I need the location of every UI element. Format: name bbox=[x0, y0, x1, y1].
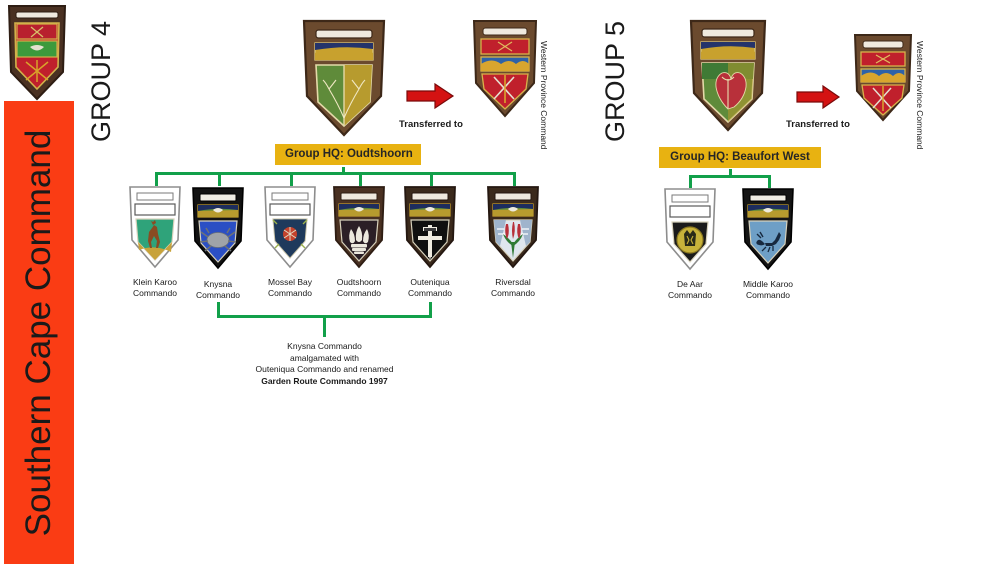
group-4-western-province-command-badge bbox=[468, 17, 542, 119]
amalgamation-note-line1: Knysna Commando bbox=[232, 341, 417, 353]
de-aar-commando-line2: Commando bbox=[647, 290, 733, 301]
amalgamation-note: Knysna Commando amalgamated with Outeniq… bbox=[232, 341, 417, 387]
group-5-title: GROUP 5 bbox=[600, 21, 631, 142]
riversdal-commando-caption: Riversdal Commando bbox=[470, 277, 556, 299]
amalgamation-note-line3: Outeniqua Commando and renamed bbox=[232, 364, 417, 376]
knysna-commando-badge bbox=[189, 185, 247, 271]
riversdal-commando-line1: Riversdal bbox=[470, 277, 556, 288]
middle-karoo-commando-line1: Middle Karoo bbox=[725, 279, 811, 290]
group-5-badge bbox=[684, 17, 772, 133]
southern-cape-command-banner: Southern Cape Command bbox=[4, 101, 74, 564]
amalgamation-note-line4: Garden Route Commando 1997 bbox=[232, 376, 417, 388]
riversdal-commando-badge bbox=[484, 184, 542, 270]
group-4-transfer-arrow bbox=[405, 82, 455, 115]
southern-cape-command-crest bbox=[4, 2, 70, 101]
amalgamation-note-line2: amalgamated with bbox=[232, 353, 417, 365]
group-4-transfer-label: Transferred to bbox=[399, 119, 463, 130]
group-4-drop-knysna bbox=[218, 172, 221, 186]
outeniqua-commando-badge bbox=[401, 184, 459, 270]
group-4-title: GROUP 4 bbox=[86, 21, 117, 142]
outeniqua-commando-caption: Outeniqua Commando bbox=[387, 277, 473, 299]
group-5-transfer-label: Transferred to bbox=[786, 119, 850, 130]
amalgamation-stem bbox=[323, 315, 326, 337]
de-aar-commando-badge bbox=[661, 186, 719, 272]
group-4-transferred-to-text: Western Province Command bbox=[539, 41, 549, 150]
outeniqua-commando-line1: Outeniqua bbox=[387, 277, 473, 288]
group-5-horizontal-bus bbox=[689, 175, 771, 178]
middle-karoo-commando-line2: Commando bbox=[725, 290, 811, 301]
klein-karoo-commando-badge bbox=[126, 184, 184, 270]
mossel-bay-commando-badge bbox=[261, 184, 319, 270]
de-aar-commando-line1: De Aar bbox=[647, 279, 733, 290]
group-4-horizontal-bus bbox=[155, 172, 515, 175]
riversdal-commando-line2: Commando bbox=[470, 288, 556, 299]
command-banner-label: Southern Cape Command bbox=[19, 129, 59, 536]
outeniqua-commando-line2: Commando bbox=[387, 288, 473, 299]
group-5-hq-pill: Group HQ: Beaufort West bbox=[659, 147, 821, 168]
group-4-transferred-to-label: Western Province Command bbox=[538, 41, 549, 150]
group-4-badge bbox=[296, 16, 392, 138]
group-5-western-province-command-badge bbox=[850, 31, 916, 123]
organisation-chart: Southern Cape Command GROUP 4 Transferre… bbox=[0, 0, 1000, 564]
middle-karoo-commando-badge bbox=[739, 186, 797, 272]
de-aar-commando-caption: De Aar Commando bbox=[647, 279, 733, 301]
oudtshoorn-commando-badge bbox=[330, 184, 388, 270]
group-4-hq-pill: Group HQ: Oudtshoorn bbox=[275, 144, 421, 165]
group-5-transferred-to-text: Western Province Command bbox=[915, 41, 925, 150]
group-5-transferred-to-label: Western Province Command bbox=[914, 41, 925, 150]
group-5-transfer-arrow bbox=[795, 84, 841, 115]
middle-karoo-commando-caption: Middle Karoo Commando bbox=[725, 279, 811, 301]
